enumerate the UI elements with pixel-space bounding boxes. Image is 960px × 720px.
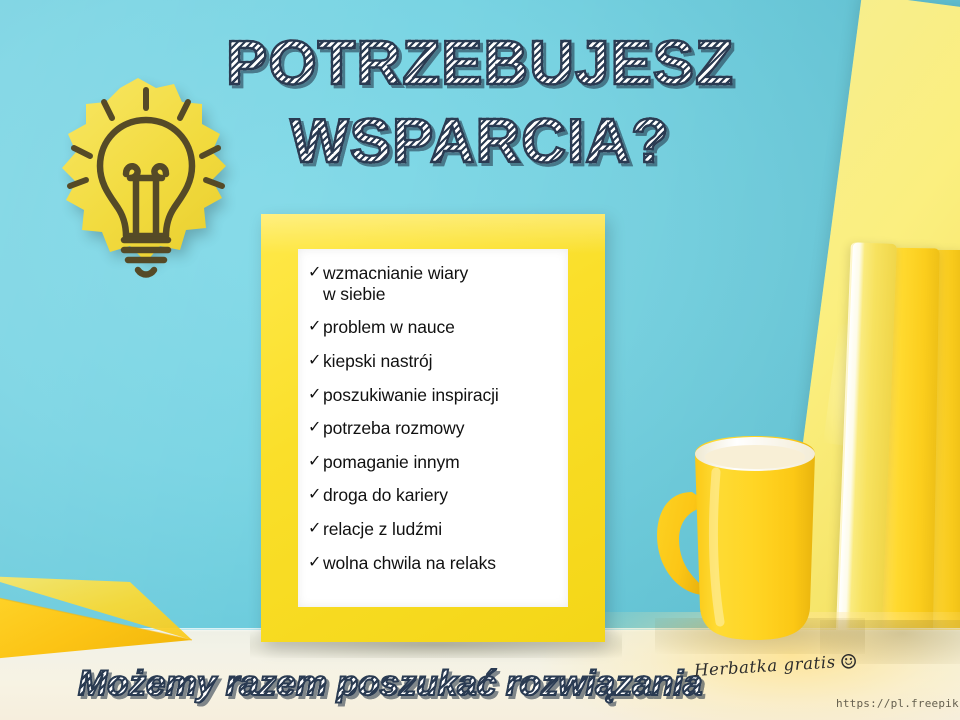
list-item-label: kiepski nastrój [323,351,562,372]
check-icon: ✓ [308,317,323,337]
list-item: ✓ pomaganie innym [308,452,562,473]
check-icon: ✓ [308,452,323,472]
list-item-label: pomaganie innym [323,452,562,473]
smiley-face-icon: ☺ [839,649,859,674]
list-item: ✓ wolna chwila na relaks [308,553,562,574]
paper-airplane-icon [0,536,210,666]
frame-white-paper: ✓ wzmacnianie wiary w siebie ✓ problem w… [298,249,568,607]
coffee-mug-icon [650,432,860,654]
poster-caption: Możemy razem poszukać rozwiązania [78,664,702,704]
watermark-url: https://pl.freepik.com [836,697,960,710]
check-icon: ✓ [308,485,323,505]
poster-canvas: ✓ wzmacnianie wiary w siebie ✓ problem w… [0,0,960,720]
list-item: ✓ relacje z ludźmi [308,519,562,540]
list-item: ✓ wzmacnianie wiary w siebie [308,263,562,304]
check-icon: ✓ [308,385,323,405]
list-item-label: relacje z ludźmi [323,519,562,540]
list-item-label: potrzeba rozmowy [323,418,562,439]
check-icon: ✓ [308,553,323,573]
check-icon: ✓ [308,519,323,539]
list-item-label: wolna chwila na relaks [323,553,562,574]
check-icon: ✓ [308,263,323,283]
list-item: ✓ problem w nauce [308,317,562,338]
page-title-line-1: POTRZEBUJESZ [0,28,960,99]
check-icon: ✓ [308,351,323,371]
list-item-label: droga do kariery [323,485,562,506]
list-item: ✓ kiepski nastrój [308,351,562,372]
list-item: ✓ potrzeba rozmowy [308,418,562,439]
checklist: ✓ wzmacnianie wiary w siebie ✓ problem w… [308,263,562,586]
check-icon: ✓ [308,418,323,438]
page-title-line-2: WSPARCIA? [0,106,960,177]
list-item-label: wzmacnianie wiary w siebie [323,263,562,304]
list-item-label: poszukiwanie inspiracji [323,385,562,406]
list-item: ✓ droga do kariery [308,485,562,506]
list-item: ✓ poszukiwanie inspiracji [308,385,562,406]
picture-frame: ✓ wzmacnianie wiary w siebie ✓ problem w… [261,214,605,642]
list-item-label: problem w nauce [323,317,562,338]
